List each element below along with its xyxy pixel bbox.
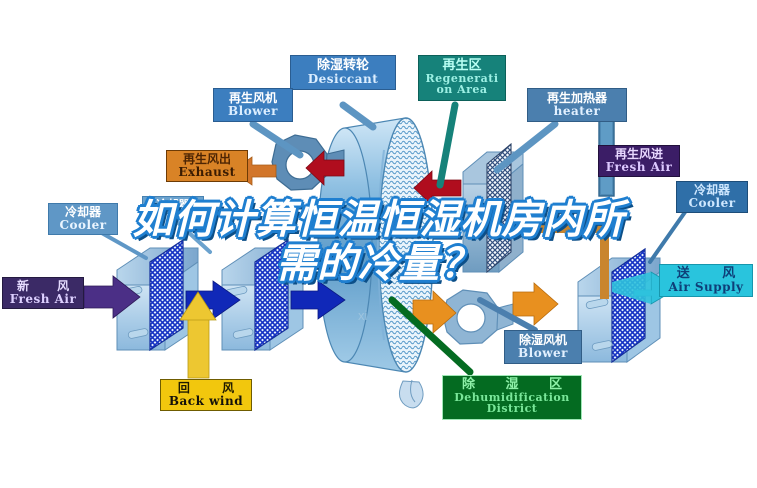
label-dehumidification-blower-cn: 除湿风机 xyxy=(507,334,579,347)
label-regeneration-area-cn: 再生区 xyxy=(421,59,503,73)
label-regeneration-heater-cn: 再生加热器 xyxy=(530,92,624,105)
label-fresh-air: 新 风 Fresh Air xyxy=(2,277,84,309)
diagram-canvas: xi xyxy=(0,0,757,488)
label-cooler-right-en: Cooler xyxy=(679,197,745,210)
label-air-supply: 送 风 Air Supply xyxy=(659,264,753,297)
supply-cooler-unit xyxy=(578,249,660,362)
regen-fresh-air-arrow xyxy=(512,218,605,240)
label-back-wind: 回 风 Back wind xyxy=(160,379,252,411)
label-fresh-air-cn: 新 风 xyxy=(5,280,81,293)
label-cooler-right: 冷却器 Cooler xyxy=(676,181,748,213)
label-back-wind-en: Back wind xyxy=(163,395,249,408)
label-regeneration-heater: 再生加热器 heater xyxy=(527,88,627,122)
label-exhaust-cn: 再生风出 xyxy=(169,153,245,166)
label-cooler-left-b: 冷却器 xyxy=(142,196,204,214)
label-dehumidification-district: 除 湿 区 Dehumidification District xyxy=(442,375,582,420)
label-regeneration-area-en2: on Area xyxy=(421,84,503,96)
label-regeneration-fresh-air-cn: 再生风进 xyxy=(601,148,677,161)
label-dehumidification-district-en2: District xyxy=(445,403,579,415)
label-regeneration-fresh-air-en: Fresh Air xyxy=(601,161,677,174)
label-dehumidification-blower-en: Blower xyxy=(507,347,579,360)
label-dehumidification-district-cn: 除 湿 区 xyxy=(445,378,579,392)
regeneration-heater xyxy=(463,144,523,272)
label-cooler-left-a-cn: 冷却器 xyxy=(51,206,115,219)
label-cooler-left-a-en: Cooler xyxy=(51,219,115,232)
label-regeneration-blower: 再生风机 Blower xyxy=(213,88,293,122)
label-air-supply-en: Air Supply xyxy=(662,281,750,294)
label-fresh-air-en: Fresh Air xyxy=(5,293,81,306)
label-desiccant: 除湿转轮 Desiccant xyxy=(290,55,396,90)
label-regeneration-blower-en: Blower xyxy=(216,105,290,118)
label-desiccant-cn: 除湿转轮 xyxy=(293,59,393,73)
label-regeneration-heater-en: heater xyxy=(530,105,624,118)
label-exhaust-en: Exhaust xyxy=(169,166,245,179)
label-back-wind-cn: 回 风 xyxy=(163,382,249,395)
label-dehumidification-blower: 除湿风机 Blower xyxy=(504,330,582,364)
label-regeneration-area: 再生区 Regenerati on Area xyxy=(418,55,506,101)
label-cooler-right-cn: 冷却器 xyxy=(679,184,745,197)
label-cooler-left-a: 冷却器 Cooler xyxy=(48,203,118,235)
label-air-supply-cn: 送 风 xyxy=(662,267,750,281)
label-cooler-left-b-cn: 冷却器 xyxy=(145,199,201,211)
label-regeneration-blower-cn: 再生风机 xyxy=(216,92,290,105)
svg-text:xi: xi xyxy=(358,308,368,323)
label-exhaust: 再生风出 Exhaust xyxy=(166,150,248,182)
label-desiccant-en: Desiccant xyxy=(293,73,393,86)
label-regeneration-fresh-air: 再生风进 Fresh Air xyxy=(598,145,680,177)
